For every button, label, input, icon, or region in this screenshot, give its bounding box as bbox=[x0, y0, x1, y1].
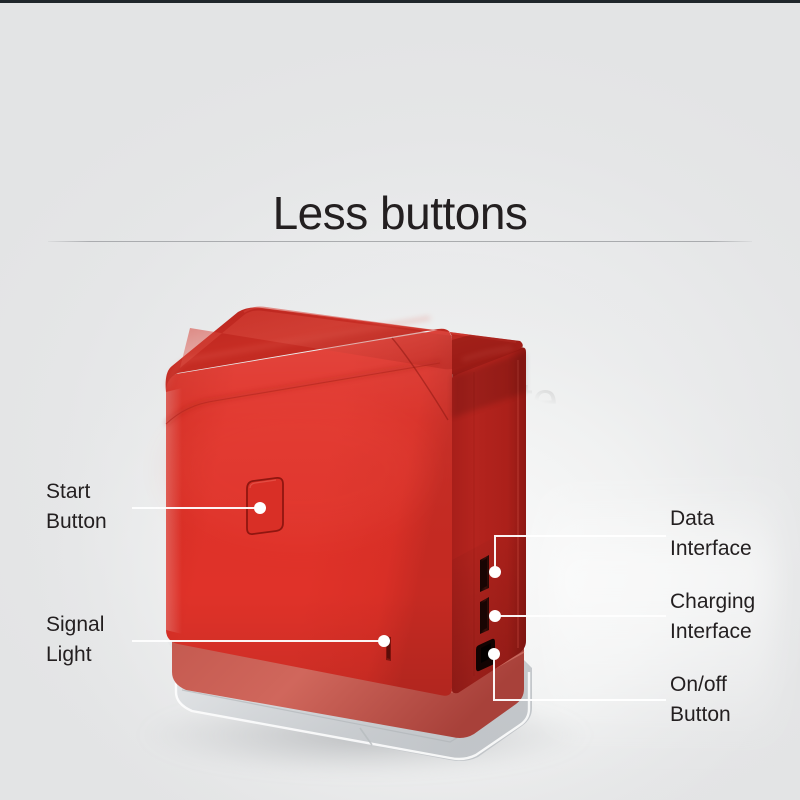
infographic-page: Less buttons Easy to operate bbox=[0, 0, 800, 800]
callout-label-onoff-button: On/off Button bbox=[670, 670, 731, 730]
callout-label-charging-interface: Charging Interface bbox=[670, 587, 755, 647]
callout-label-signal-light: Signal Light bbox=[46, 610, 104, 670]
callout-label-data-interface: Data Interface bbox=[670, 504, 752, 564]
charging-port[interactable] bbox=[480, 597, 489, 634]
data-port[interactable] bbox=[480, 555, 489, 592]
callout-label-start-button: Start Button bbox=[46, 477, 107, 537]
